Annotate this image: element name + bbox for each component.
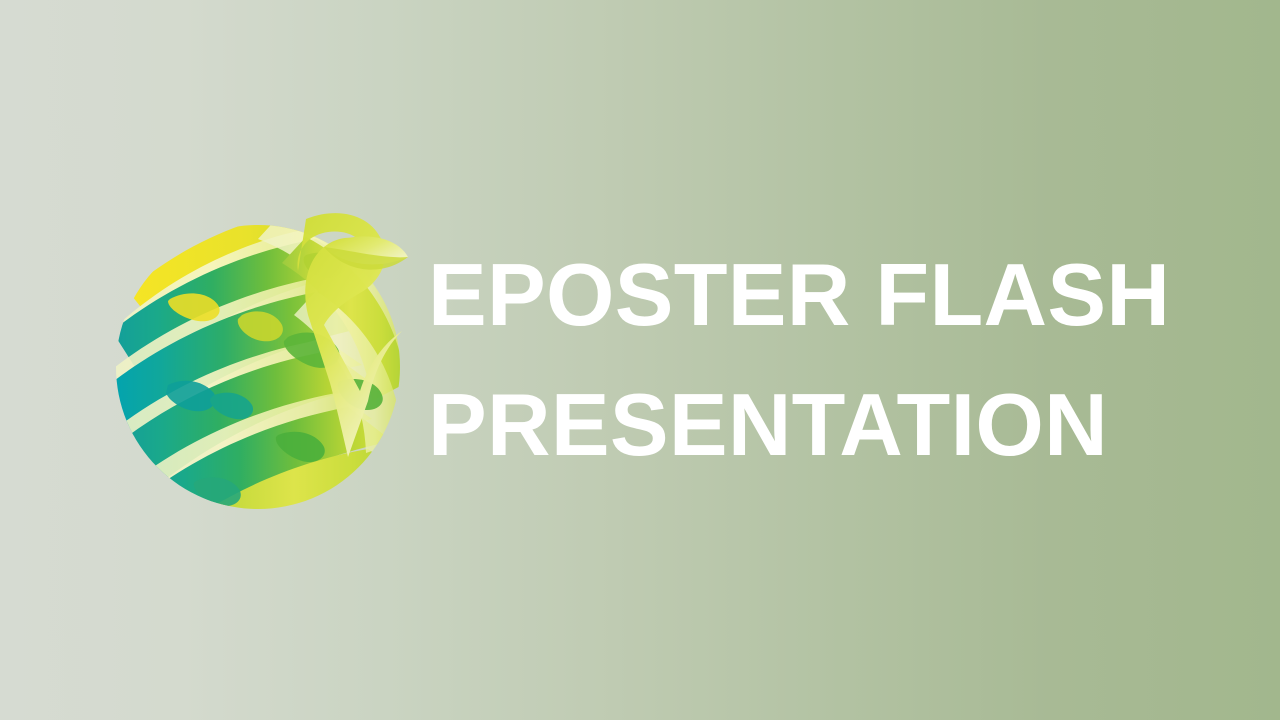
- globe-ribbon-leaf-logo: [110, 195, 410, 525]
- globe-ribbon-leaf-icon: [110, 195, 410, 525]
- page-title-line-2: PRESENTATION: [428, 360, 1170, 490]
- title-block: EPOSTER FLASH PRESENTATION: [428, 230, 1170, 490]
- page-title-line-1: EPOSTER FLASH: [428, 230, 1170, 360]
- slide-content: EPOSTER FLASH PRESENTATION: [0, 0, 1280, 720]
- eposter-flash-presentation-slide: EPOSTER FLASH PRESENTATION: [0, 0, 1280, 720]
